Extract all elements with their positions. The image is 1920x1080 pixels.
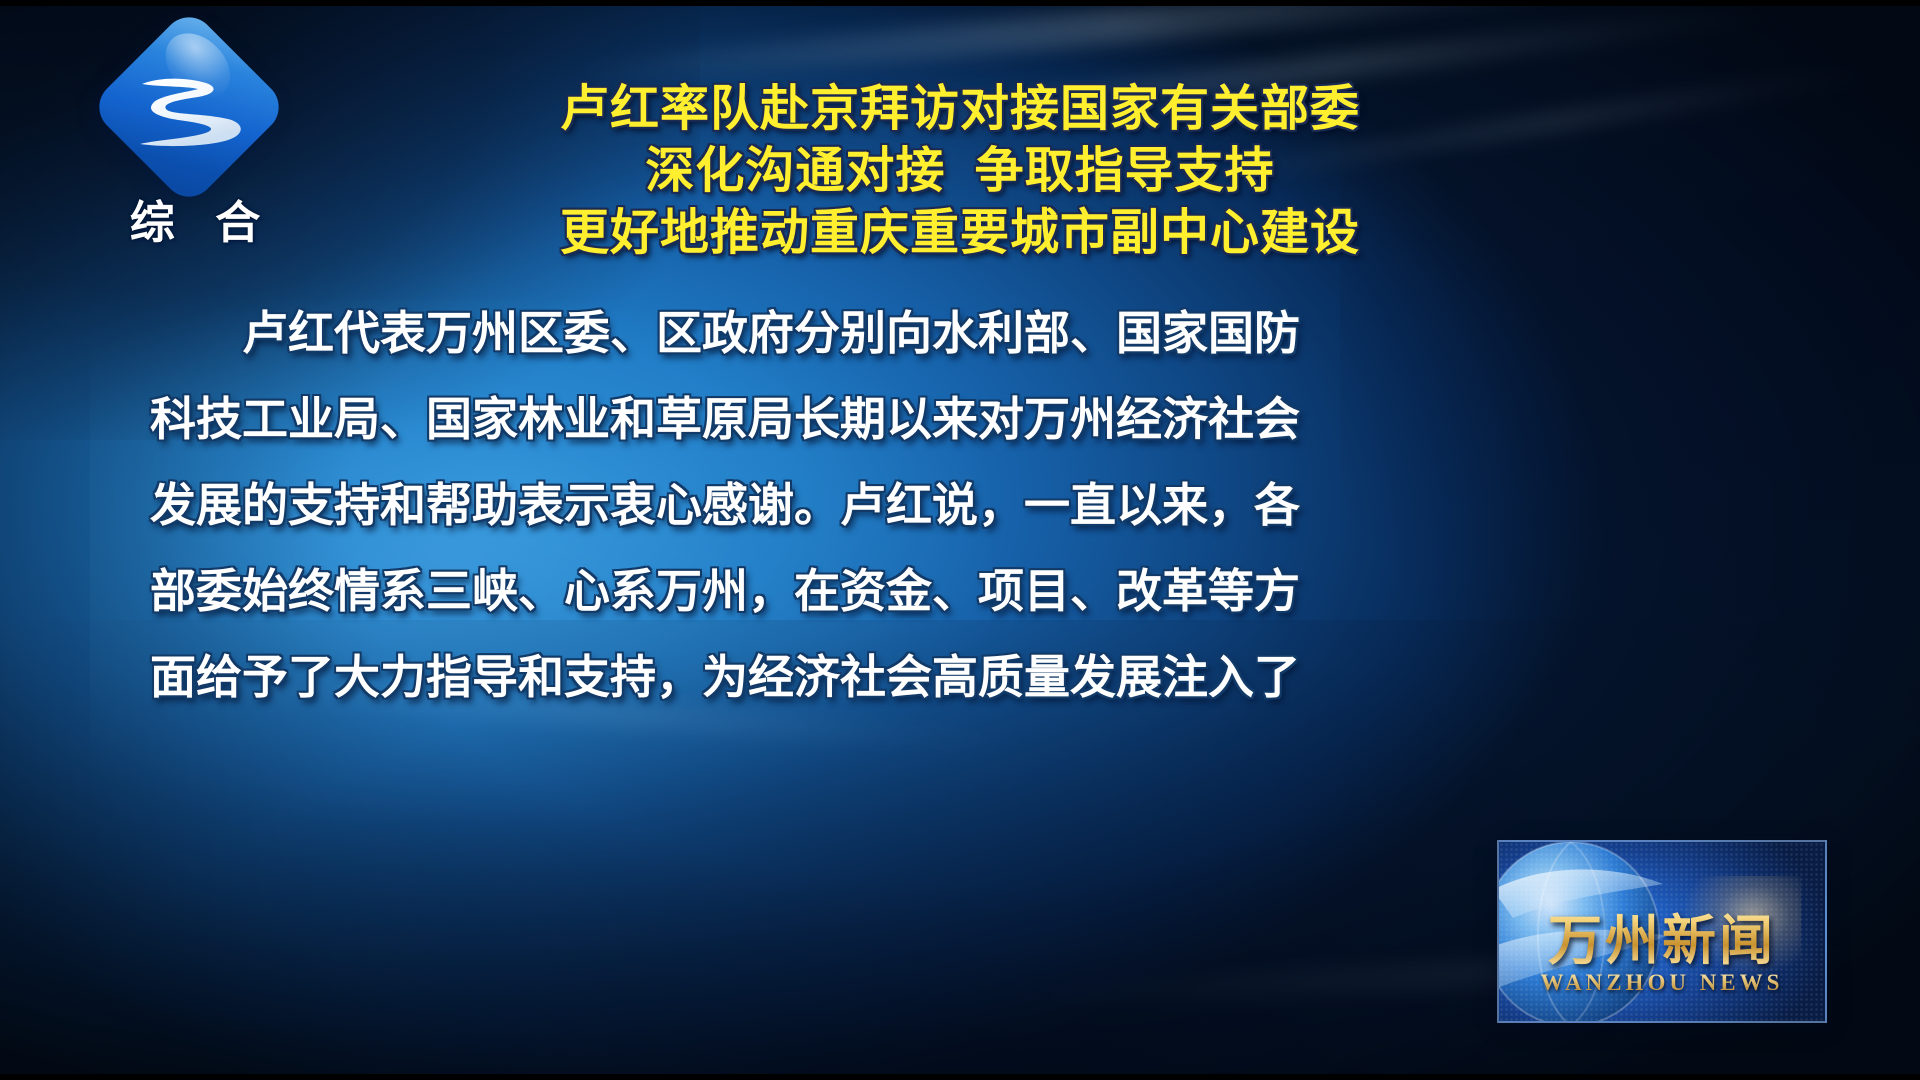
headline-block: 卢红率队赴京拜访对接国家有关部委 深化沟通对接 争取指导支持 更好地推动重庆重要… (0, 78, 1920, 264)
headline-line-2: 深化沟通对接 争取指导支持 (0, 140, 1920, 202)
body-line-3: 发展的支持和帮助表示衷心感谢。卢红说，一直以来，各 (150, 462, 1420, 548)
body-line-4: 部委始终情系三峡、心系万州，在资金、项目、改革等方 (150, 548, 1420, 634)
program-title: 万州新闻 (1499, 896, 1825, 975)
program-subtitle: WANZHOU NEWS (1499, 970, 1825, 996)
body-line-1: 卢红代表万州区委、区政府分别向水利部、国家国防 (150, 290, 1420, 376)
headline-line-3: 更好地推动重庆重要城市副中心建设 (0, 202, 1920, 264)
body-paragraph: 卢红代表万州区委、区政府分别向水利部、国家国防 科技工业局、国家林业和草原局长期… (150, 290, 1420, 720)
body-line-5: 面给予了大力指导和支持，为经济社会高质量发展注入了 (150, 634, 1420, 720)
letterbox-bar-bottom (0, 1074, 1920, 1080)
letterbox-bar-top (0, 0, 1920, 6)
headline-line-1: 卢红率队赴京拜访对接国家有关部委 (0, 78, 1920, 140)
broadcast-screen: 综 合 卢红率队赴京拜访对接国家有关部委 深化沟通对接 争取指导支持 更好地推动… (0, 0, 1920, 1080)
body-line-2: 科技工业局、国家林业和草原局长期以来对万州经济社会 (150, 376, 1420, 462)
program-badge: 万州新闻 WANZHOU NEWS (1497, 840, 1827, 1023)
